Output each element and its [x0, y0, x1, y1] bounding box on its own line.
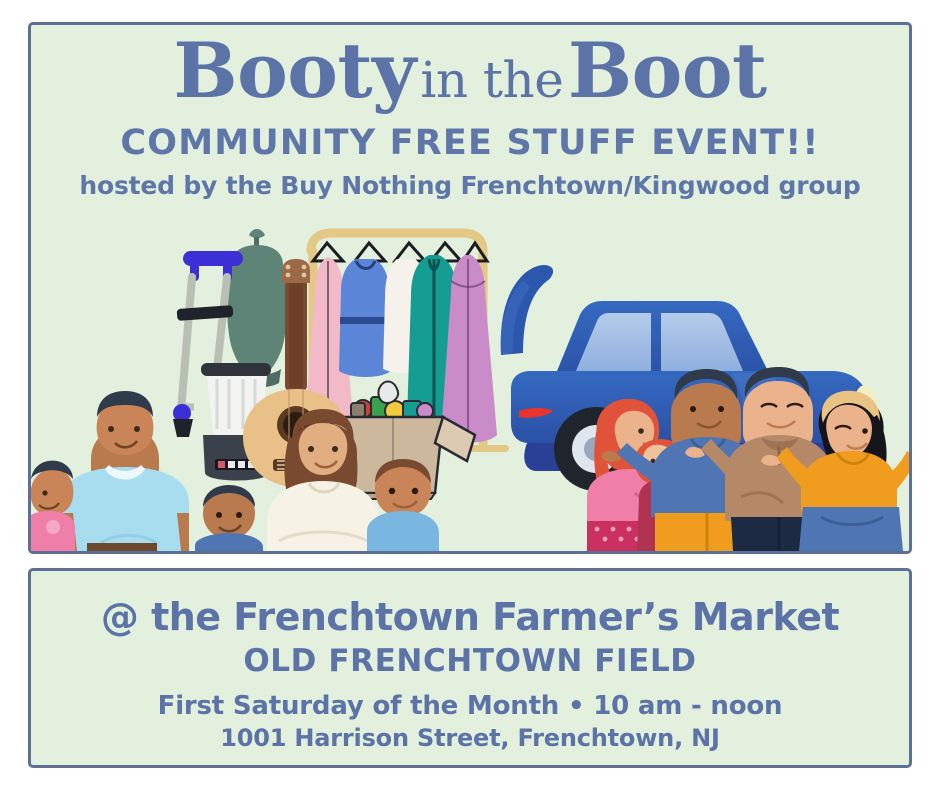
title-part-boot: Boot: [568, 26, 767, 115]
event-schedule: First Saturday of the Month • 10 am - no…: [31, 691, 909, 721]
venue-name: @ the Frenchtown Farmer’s Market: [31, 595, 909, 639]
details-text-block: @ the Frenchtown Farmer’s Market OLD FRE…: [31, 595, 909, 752]
illustration: [31, 221, 909, 551]
event-address: 1001 Harrison Street, Frenchtown, NJ: [31, 724, 909, 752]
dress-blue-icon: [339, 259, 391, 377]
header-text-block: Booty in the Boot COMMUNITY FREE STUFF E…: [31, 33, 909, 200]
title-part-booty: Booty: [173, 26, 415, 115]
hero-panel: Booty in the Boot COMMUNITY FREE STUFF E…: [28, 22, 912, 554]
field-name: OLD FRENCHTOWN FIELD: [31, 643, 909, 679]
event-subtitle: COMMUNITY FREE STUFF EVENT!!: [31, 123, 909, 163]
page-title: Booty in the Boot: [31, 33, 909, 109]
flyer-canvas: Booty in the Boot COMMUNITY FREE STUFF E…: [0, 0, 940, 788]
details-panel: @ the Frenchtown Farmer’s Market OLD FRE…: [28, 568, 912, 768]
hosted-by-line: hosted by the Buy Nothing Frenchtown/Kin…: [31, 171, 909, 200]
title-part-in-the: in the: [420, 51, 563, 109]
